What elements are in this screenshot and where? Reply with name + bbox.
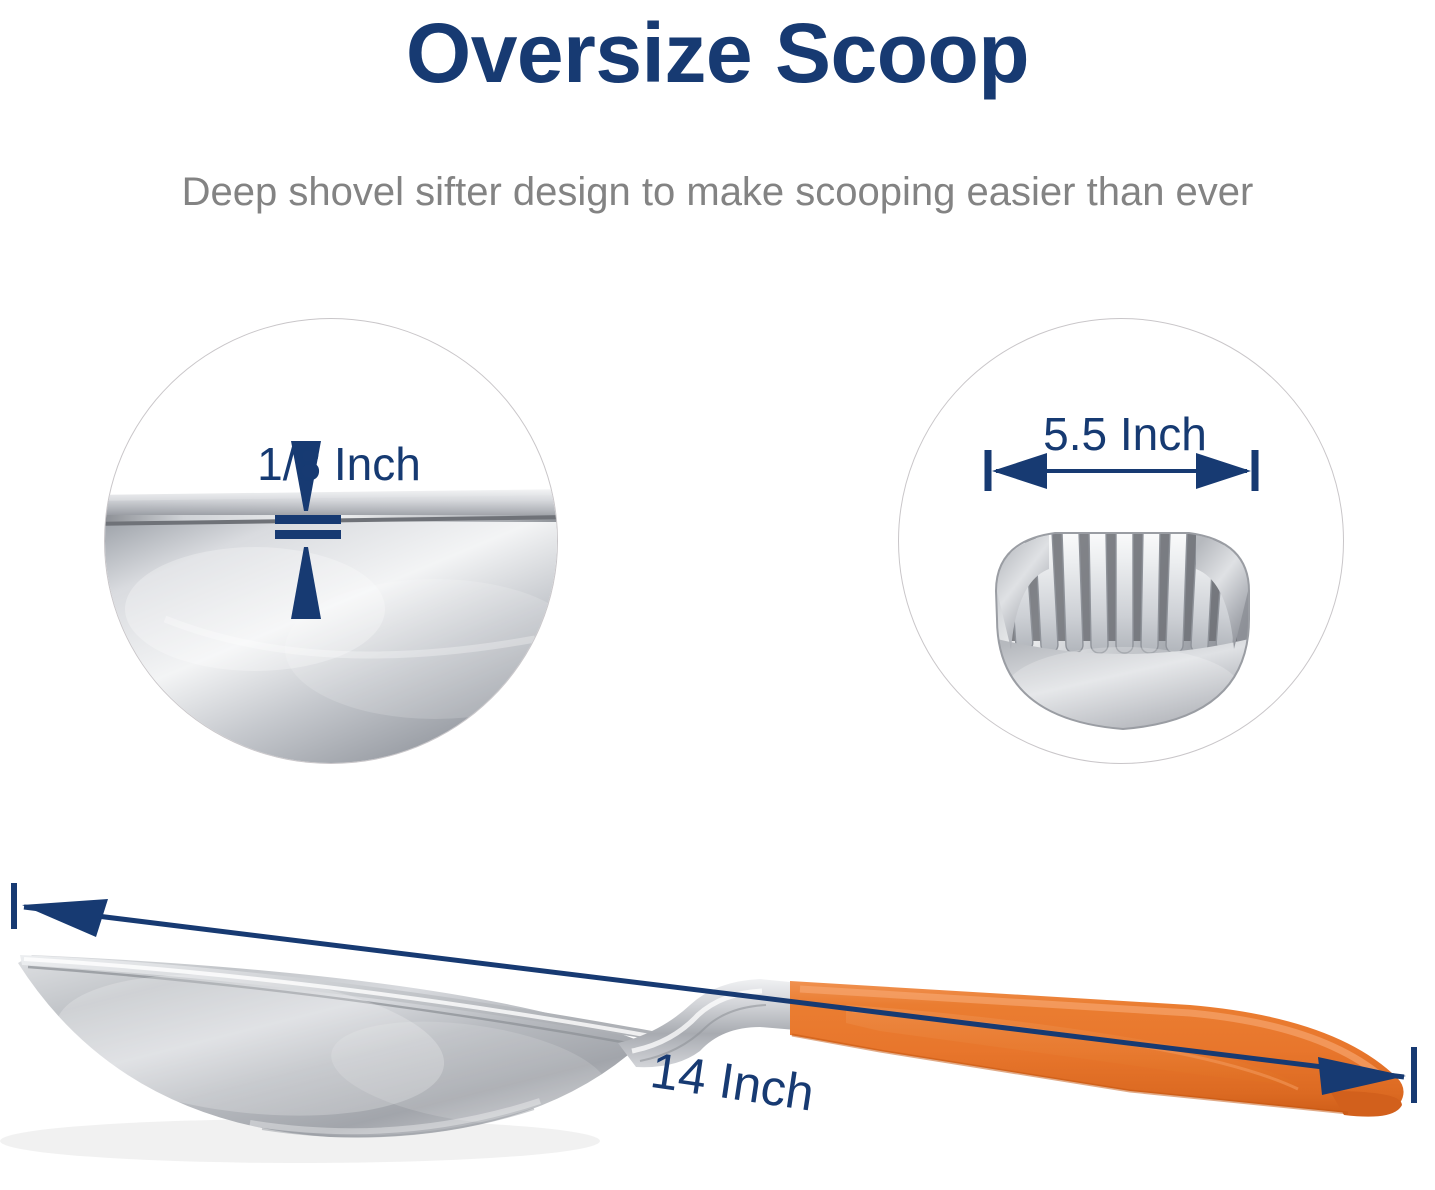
- product-photo-area: 14 Inch: [0, 855, 1435, 1190]
- thickness-illustration: [105, 319, 557, 763]
- page-title: Oversize Scoop: [0, 8, 1435, 99]
- callout-circle-width: 5.5 Inch: [898, 318, 1344, 764]
- scoop-bowl: [18, 955, 660, 1140]
- dimension-arrowhead-left: [992, 453, 1047, 489]
- sifter-head-photo: [989, 521, 1257, 739]
- scoop-product-illustration: [0, 855, 1435, 1190]
- grip-handle: [790, 981, 1404, 1117]
- dimension-arrowhead-left: [22, 899, 108, 937]
- infographic-page: Oversize Scoop Deep shovel sifter design…: [0, 0, 1435, 1190]
- callout-label-thickness: 1/8 Inch: [113, 441, 558, 487]
- page-subtitle: Deep shovel sifter design to make scoopi…: [0, 168, 1435, 216]
- callout-circle-thickness: 1/8 Inch: [104, 318, 558, 764]
- sifter-head-illustration: [899, 319, 1343, 763]
- thickness-bar-bottom: [275, 530, 341, 539]
- thickness-bar-top: [275, 515, 341, 524]
- callout-label-width: 5.5 Inch: [903, 411, 1344, 457]
